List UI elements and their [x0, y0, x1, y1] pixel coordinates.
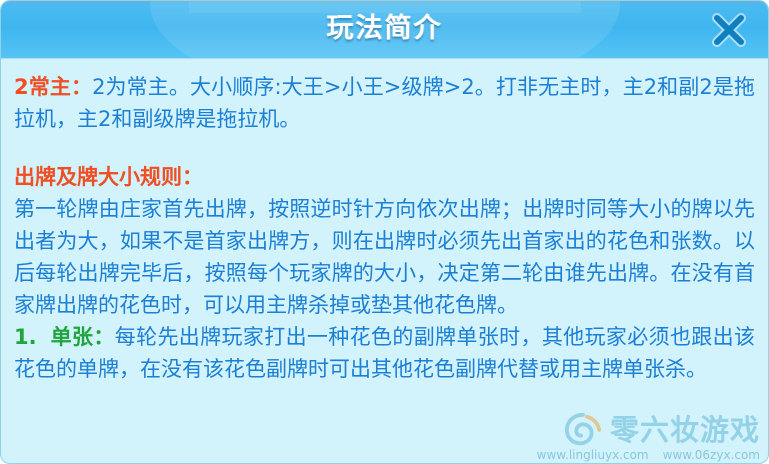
- rule1-text: 2为常主。大小顺序:大王>小王>级牌>2。打非无主时，主2和副2是拖拉机，主2和…: [14, 75, 755, 131]
- spiral-logo-icon: [564, 411, 602, 449]
- dialog-title: 玩法简介: [1, 8, 768, 50]
- header-top-divider: [1, 1, 768, 3]
- list-item: 1. 单张：每轮先出牌玩家打出一种花色的副牌单张时，其他玩家必须也跟出该花色的单…: [14, 321, 755, 385]
- rule1-term: 2常主：: [14, 75, 92, 99]
- paragraph-spacer: [14, 135, 755, 161]
- rule2-heading: 出牌及牌大小规则：: [14, 161, 755, 193]
- watermark: 零六妆游戏 www.lingliuyx.com www.06zyx.com: [542, 411, 760, 463]
- watermark-brand-row: 零六妆游戏: [542, 411, 760, 449]
- rule-常主-paragraph: 2常主：2为常主。大小顺序:大王>小王>级牌>2。打非无主时，主2和副2是拖拉机…: [14, 71, 755, 135]
- dialog-header: 玩法简介: [1, 1, 768, 59]
- watermark-brand-name: 零六妆游戏: [610, 411, 760, 449]
- game-intro-dialog: 玩法简介 2常主：2为常主。大小顺序:大王>小王>级牌>2。打非无主时，主2和副…: [0, 0, 769, 464]
- close-x-icon: [706, 7, 752, 53]
- rule2-paragraph: 第一轮牌由庄家首先出牌，按照逆时针方向依次出牌；出牌时同等大小的牌以先出者为大，…: [14, 193, 755, 321]
- watermark-url-1: www.lingliuyx.com: [537, 447, 649, 463]
- watermark-urls: www.lingliuyx.com www.06zyx.com: [542, 447, 760, 463]
- watermark-url-2: www.06zyx.com: [663, 447, 760, 463]
- dialog-content: 2常主：2为常主。大小顺序:大王>小王>级牌>2。打非无主时，主2和副2是拖拉机…: [1, 59, 768, 464]
- close-button[interactable]: [706, 7, 752, 53]
- list-item-number: 1.: [14, 325, 37, 349]
- list-item-term: 单张：: [51, 325, 115, 349]
- list-item-text: 每轮先出牌玩家打出一种花色的副牌单张时，其他玩家必须也跟出该花色的单牌，在没有该…: [14, 325, 755, 381]
